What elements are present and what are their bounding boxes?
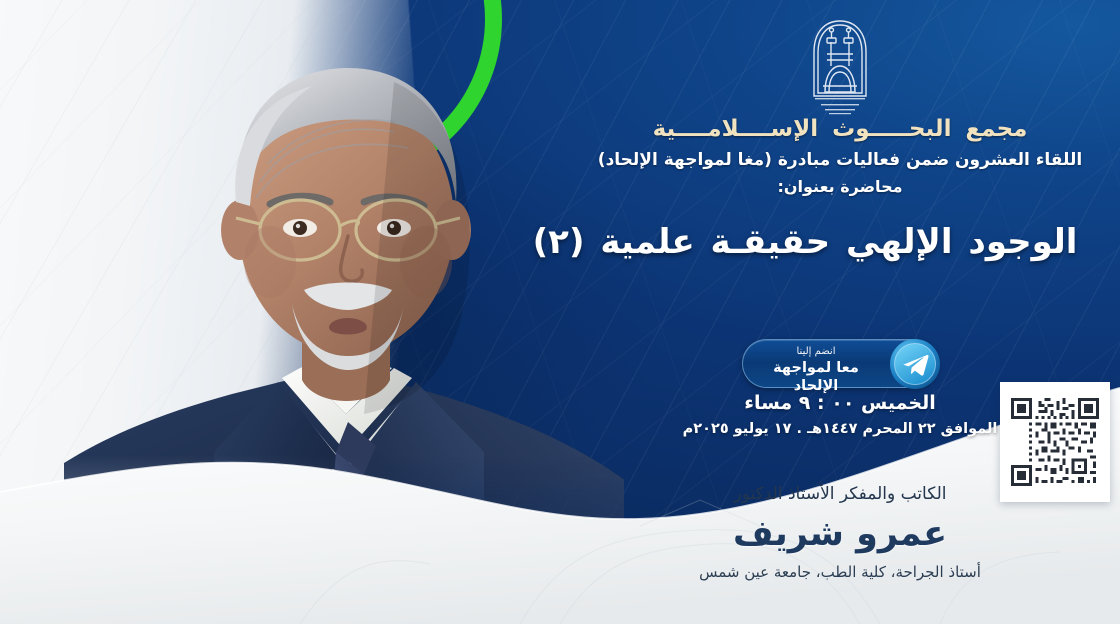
lecture-label: محاضرة بعنوان: (560, 177, 1120, 196)
meeting-series-line: اللقاء العشرون ضمن فعاليات مبادرة (مغا ل… (560, 150, 1120, 170)
telegram-icon[interactable] (887, 336, 943, 392)
lecture-title: الوجود الإلهي حقيقـة علمية (٢) (490, 222, 1120, 262)
poster-content-column: مجمع البحـــــوث الإســــلامــــية اللقا… (560, 0, 1120, 624)
telegram-channel-label: معا لمواجهة الإلحاد (751, 359, 881, 395)
speaker-affiliation: أستاذ الجراحة، كلية الطب، جامعة عين شمس (560, 563, 1120, 581)
qr-code-card[interactable] (1000, 382, 1110, 502)
organization-name: مجمع البحـــــوث الإســــلامــــية (560, 116, 1120, 142)
speaker-name: عمرو شريف (560, 514, 1120, 554)
qr-code[interactable] (1011, 398, 1099, 486)
lecture-announcement-poster: مجمع البحـــــوث الإســــلامــــية اللقا… (0, 0, 1120, 624)
al-azhar-emblem-logo (803, 12, 877, 116)
telegram-join-badge[interactable]: انضم إلينا معا لمواجهة الإلحاد (742, 339, 938, 388)
telegram-badge-text: انضم إلينا معا لمواجهة الإلحاد (751, 346, 881, 395)
telegram-join-label: انضم إلينا (751, 346, 881, 359)
